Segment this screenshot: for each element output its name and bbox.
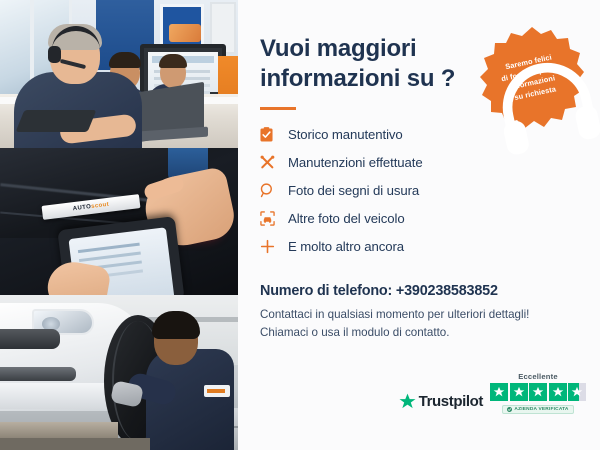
trustpilot-rating-label: Eccellente bbox=[518, 372, 558, 381]
contact-subtext: Contattaci in qualsiasi momento per ulte… bbox=[260, 306, 578, 342]
headline-line-1: Vuoi maggiori bbox=[260, 35, 417, 62]
page-title: Vuoi maggiori informazioni su ? bbox=[260, 34, 470, 94]
photo-call-center bbox=[0, 0, 238, 148]
feature-item-wear-photos: Foto dei segni di usura bbox=[260, 177, 578, 203]
feature-label: Manutenzioni effettuate bbox=[288, 155, 423, 170]
photo-mechanic-wheel-check bbox=[0, 295, 238, 450]
photo-vehicle-inspection: AUTOscout bbox=[0, 148, 238, 295]
star-partial bbox=[568, 383, 586, 401]
callout-badge: Saremo felici di fornirti queste informa… bbox=[479, 25, 585, 131]
feature-label: Storico manutentivo bbox=[288, 127, 403, 142]
verified-business-badge: AZIENDA VERIFICATA bbox=[502, 405, 573, 414]
trustpilot-rating-block: Eccellente bbox=[490, 372, 586, 414]
trustpilot-stars bbox=[490, 383, 586, 401]
car-scan-icon bbox=[260, 211, 282, 226]
trustpilot-star-icon bbox=[399, 393, 416, 410]
star-filled bbox=[490, 383, 508, 401]
title-divider bbox=[260, 107, 296, 110]
star-filled bbox=[510, 383, 528, 401]
feature-item-more-photos: Altre foto del veicolo bbox=[260, 205, 578, 231]
verified-badge-text: AZIENDA VERIFICATA bbox=[514, 407, 568, 412]
content-panel: Vuoi maggiori informazioni su ? Saremo f… bbox=[238, 0, 600, 450]
star-filled bbox=[529, 383, 547, 401]
feature-label: Altre foto del veicolo bbox=[288, 211, 405, 226]
clipboard-check-icon bbox=[260, 127, 282, 142]
trustpilot-wordmark: Trustpilot bbox=[419, 393, 483, 410]
feature-label: E molto altro ancora bbox=[288, 239, 404, 254]
subtext-line-1: Contattaci in qualsiasi momento per ulte… bbox=[260, 308, 529, 321]
phone-number[interactable]: Numero di telefono: +390238583852 bbox=[260, 283, 578, 299]
trustpilot-widget[interactable]: Trustpilot Eccellente bbox=[399, 372, 586, 414]
headline-line-2: informazioni su ? bbox=[260, 65, 455, 92]
contact-info-banner: AUTOscout Vuoi maggiori infor bbox=[0, 0, 600, 450]
magnifier-icon bbox=[260, 183, 282, 198]
plus-icon bbox=[260, 239, 282, 254]
trustpilot-logo: Trustpilot bbox=[399, 393, 483, 414]
headset-icon bbox=[484, 44, 600, 170]
star-filled bbox=[549, 383, 567, 401]
subtext-line-2: Chiamaci o usa il modulo di contatto. bbox=[260, 326, 449, 339]
feature-label: Foto dei segni di usura bbox=[288, 183, 419, 198]
verified-check-icon bbox=[507, 407, 512, 412]
photo-column: AUTOscout bbox=[0, 0, 238, 450]
tools-cross-icon bbox=[260, 155, 282, 170]
feature-item-much-more: E molto altro ancora bbox=[260, 233, 578, 259]
